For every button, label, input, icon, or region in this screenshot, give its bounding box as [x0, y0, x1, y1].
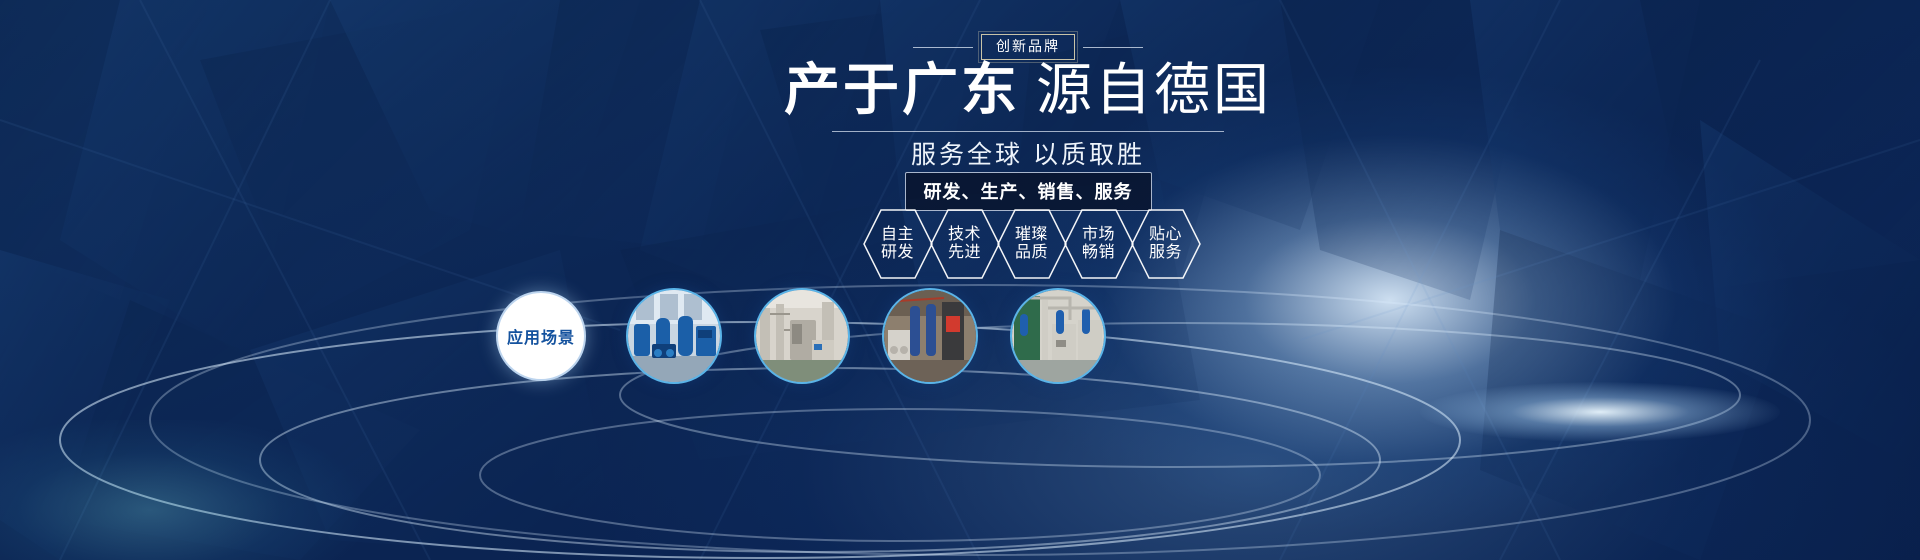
brand-badge: 创新品牌: [981, 34, 1075, 60]
headline-primary: 产于广东: [784, 62, 1020, 118]
badge-rule-right: [1083, 47, 1143, 48]
brand-badge-row: 创新品牌: [0, 34, 1920, 60]
scene-photo-4[interactable]: [1010, 288, 1106, 384]
scenes-label-circle[interactable]: 应用场景: [496, 291, 586, 381]
hexagon-label-1: 自主研发: [878, 226, 918, 262]
headline-divider: [832, 131, 1224, 132]
hexagon-label-5: 贴心服务: [1146, 226, 1186, 262]
hexagon-label-3: 璀璨品质: [1012, 226, 1052, 262]
headline-secondary: 源自德国: [1036, 62, 1272, 118]
scene-photo-3[interactable]: [882, 288, 978, 384]
promo-banner: 创新品牌 产于广东 源自德国 服务全球 以质取胜 研发、生产、销售、服务 自主研…: [0, 0, 1920, 560]
hexagon-label-2: 技术先进: [945, 226, 985, 262]
tagline-row: 研发、生产、销售、服务: [0, 172, 1920, 211]
scene-photo-2[interactable]: [754, 288, 850, 384]
subtitle: 服务全球 以质取胜: [0, 135, 1920, 171]
tagline-box: 研发、生产、销售、服务: [905, 172, 1152, 211]
hexagon-badge-4[interactable]: 市场畅销: [1062, 207, 1136, 281]
badge-rule-left: [913, 47, 973, 48]
hexagon-badge-5[interactable]: 贴心服务: [1129, 207, 1203, 281]
application-scenes-row: 应用场景: [496, 288, 1138, 384]
hexagon-label-4: 市场畅销: [1079, 226, 1119, 262]
hexagon-badge-2[interactable]: 技术先进: [928, 207, 1002, 281]
hexagon-badge-3[interactable]: 璀璨品质: [995, 207, 1069, 281]
scene-photo-1[interactable]: [626, 288, 722, 384]
banner-content: 创新品牌 产于广东 源自德国 服务全球 以质取胜 研发、生产、销售、服务 自主研…: [0, 0, 1920, 560]
feature-hexagon-row: 自主研发 技术先进 璀璨品质 市场畅销 贴心服务: [0, 207, 1920, 281]
headline: 产于广东 源自德国: [0, 62, 1920, 118]
hexagon-badge-1[interactable]: 自主研发: [861, 207, 935, 281]
